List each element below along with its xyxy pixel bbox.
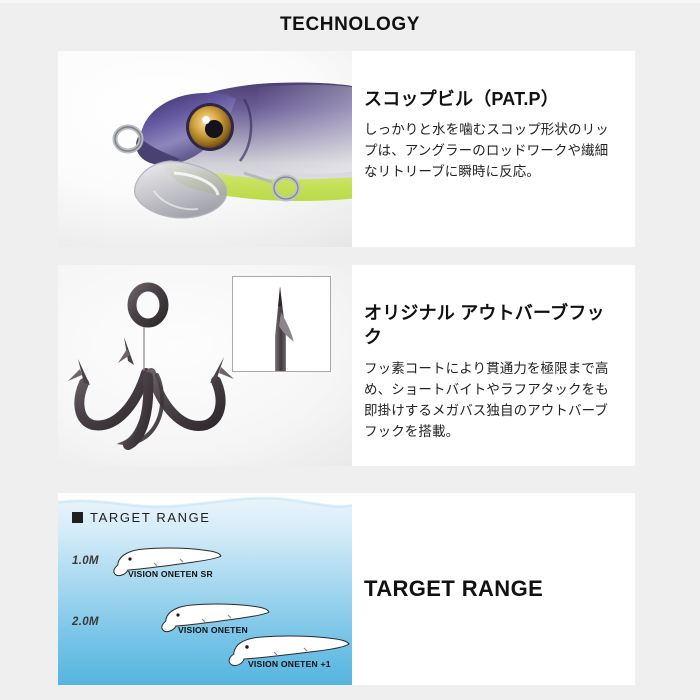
lure-marker-vision-oneten-plus1: VISION ONETEN +1 (224, 628, 352, 674)
treble-hook-photo (58, 265, 352, 466)
lure-label: VISION ONETEN +1 (248, 659, 331, 669)
barb-closeup-inset (232, 276, 331, 372)
card-title: スコップビル（PAT.P） (364, 87, 615, 111)
card-text-target-range: TARGET RANGE (352, 493, 635, 685)
water-graphic: TARGET RANGE 1.0M 2.0M VISION ONETEN SR (58, 493, 352, 685)
card-text-outbarb-hook: オリジナル アウトバーブフック フッ素コートにより貫通力を極限まで高め、ショート… (352, 265, 635, 466)
card-text-scoop-bill: スコップビル（PAT.P） しっかりと水を噛むスコップ形状のリップは、アングラー… (352, 51, 635, 247)
target-range-header-label: TARGET RANGE (90, 510, 211, 525)
page-title: TECHNOLOGY (0, 14, 700, 36)
technology-card-scoop-bill: スコップビル（PAT.P） しっかりと水を噛むスコップ形状のリップは、アングラー… (58, 51, 635, 247)
lure-marker-vision-oneten-sr: VISION ONETEN SR (110, 539, 230, 583)
depth-label-1: 1.0M (72, 555, 99, 567)
lure-label: VISION ONETEN SR (128, 569, 213, 579)
barb-closeup-illustration (233, 277, 330, 371)
card-title: TARGET RANGE (364, 576, 543, 602)
technology-card-outbarb-hook: オリジナル アウトバーブフック フッ素コートにより貫通力を極限まで高め、ショート… (58, 265, 635, 466)
page-root: TECHNOLOGY (0, 0, 700, 700)
card-description: しっかりと水を噛むスコップ形状のリップは、アングラーのロッドワークや繊細なリトリ… (364, 119, 615, 182)
square-marker-icon (72, 512, 83, 523)
depth-label-2: 2.0M (72, 616, 99, 628)
card-title: オリジナル アウトバーブフック (364, 301, 615, 350)
target-range-diagram: TARGET RANGE 1.0M 2.0M VISION ONETEN SR (58, 493, 352, 685)
lure-illustration (58, 51, 352, 247)
card-description: フッ素コートにより貫通力を極限まで高め、ショートバイトやラフアタックをも即掛けす… (364, 358, 615, 442)
lure-head-photo (58, 51, 352, 247)
technology-card-target-range: TARGET RANGE 1.0M 2.0M VISION ONETEN SR (58, 493, 635, 685)
target-range-header: TARGET RANGE (72, 510, 211, 525)
